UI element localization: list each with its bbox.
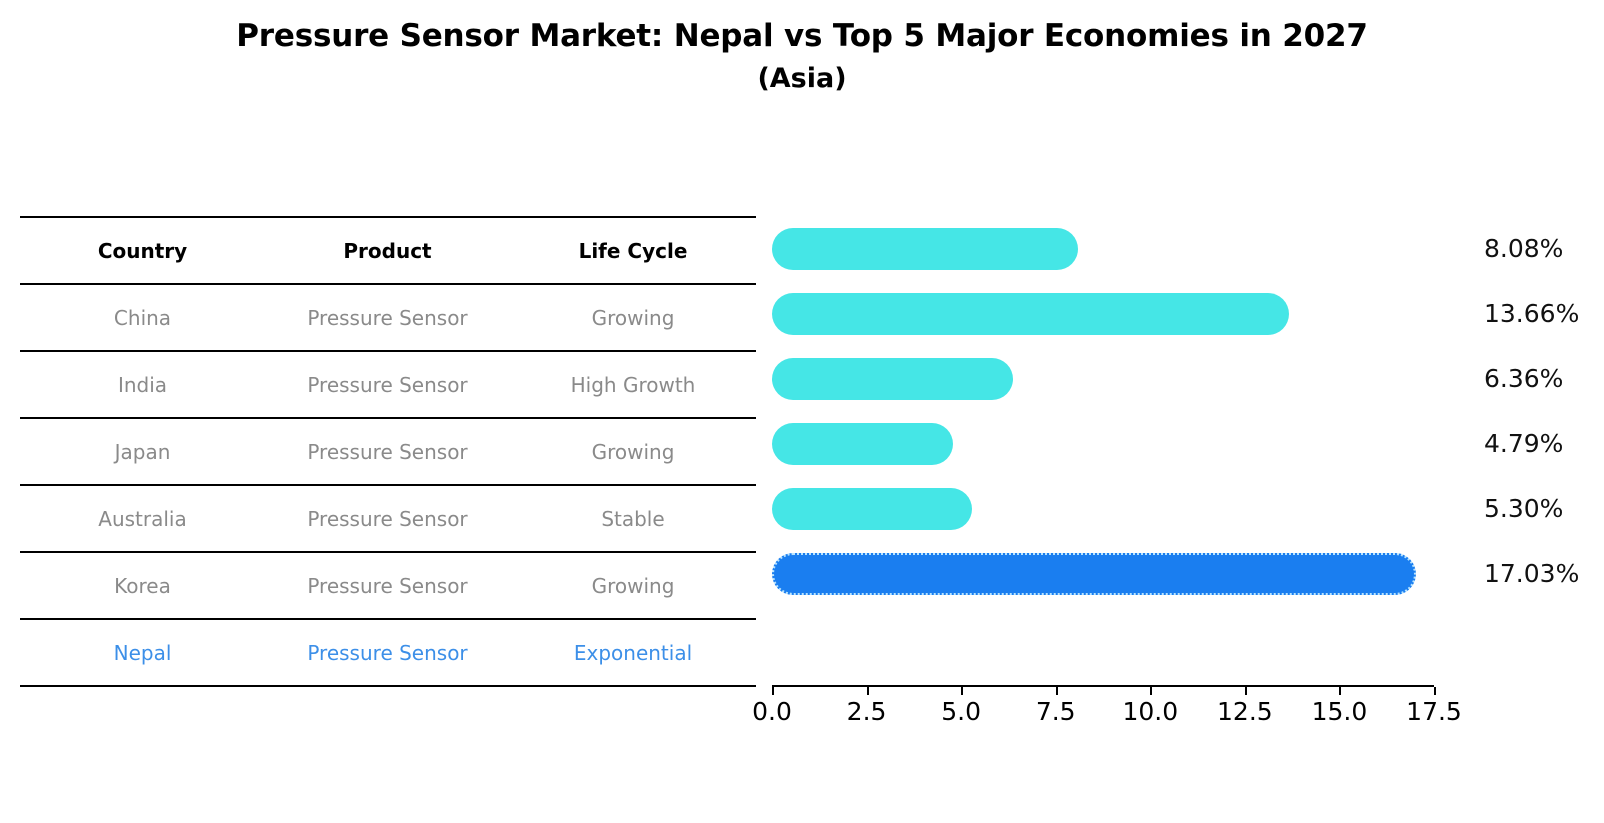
bar[interactable] (772, 228, 1078, 270)
x-axis-tick-label: 5.0 (941, 697, 981, 726)
bar-chart-panel: 8.08%13.66%6.36%4.79%5.30%17.03% (772, 216, 1472, 686)
bar-value-label: 6.36% (1472, 358, 1563, 400)
x-axis-tick (1245, 687, 1247, 695)
x-axis: 0.02.55.07.510.012.515.017.5 (772, 685, 1472, 745)
bar[interactable] (772, 488, 972, 530)
x-axis-tick-label: 17.5 (1406, 697, 1462, 726)
cell-product: Pressure Sensor (265, 351, 510, 418)
table-row: China Pressure Sensor Growing (20, 284, 756, 351)
cell-life-cycle: Exponential (510, 619, 756, 686)
x-axis-tick (1434, 687, 1436, 695)
table-body: China Pressure Sensor Growing India Pres… (20, 284, 756, 686)
bar-value-label: 17.03% (1472, 553, 1579, 595)
bar-row: 6.36% (772, 346, 1472, 411)
cell-product: Pressure Sensor (265, 485, 510, 552)
cell-country: Australia (20, 485, 265, 552)
cell-life-cycle: Stable (510, 485, 756, 552)
table-row: Australia Pressure Sensor Stable (20, 485, 756, 552)
page-title: Pressure Sensor Market: Nepal vs Top 5 M… (0, 14, 1604, 58)
bar-row: 17.03% (772, 541, 1472, 606)
table-header: Country Product Life Cycle (20, 217, 756, 284)
bar-row: 8.08% (772, 216, 1472, 281)
x-axis-tick-label: 0.0 (752, 697, 792, 726)
bar-row: 4.79% (772, 411, 1472, 476)
cell-country: Japan (20, 418, 265, 485)
bar-row: 5.30% (772, 476, 1472, 541)
cell-product: Pressure Sensor (265, 418, 510, 485)
x-axis-tick-label: 7.5 (1036, 697, 1076, 726)
x-axis-tick-label: 10.0 (1122, 697, 1178, 726)
page-subtitle: (Asia) (0, 58, 1604, 100)
cell-product: Pressure Sensor (265, 552, 510, 619)
bar[interactable] (772, 423, 953, 465)
column-header-country: Country (20, 217, 265, 284)
bar-highlighted[interactable] (772, 553, 1416, 595)
x-axis-tick (867, 687, 869, 695)
table-row-highlighted: Nepal Pressure Sensor Exponential (20, 619, 756, 686)
country-table-panel: Country Product Life Cycle China Pressur… (20, 216, 756, 687)
title-block: Pressure Sensor Market: Nepal vs Top 5 M… (0, 14, 1604, 100)
x-axis-tick-label: 15.0 (1312, 697, 1368, 726)
cell-life-cycle: High Growth (510, 351, 756, 418)
bar-value-label: 8.08% (1472, 228, 1563, 270)
plot-area: 8.08%13.66%6.36%4.79%5.30%17.03% (772, 216, 1472, 685)
cell-life-cycle: Growing (510, 552, 756, 619)
x-axis-tick (772, 687, 774, 695)
cell-life-cycle: Growing (510, 418, 756, 485)
table-row: India Pressure Sensor High Growth (20, 351, 756, 418)
x-axis-tick-label: 12.5 (1217, 697, 1273, 726)
x-axis-tick (1150, 687, 1152, 695)
x-axis-tick-label: 2.5 (847, 697, 887, 726)
cell-product: Pressure Sensor (265, 619, 510, 686)
bar[interactable] (772, 358, 1013, 400)
bar[interactable] (772, 293, 1289, 335)
cell-country: Nepal (20, 619, 265, 686)
cell-life-cycle: Growing (510, 284, 756, 351)
x-axis-tick (961, 687, 963, 695)
x-axis-tick (1056, 687, 1058, 695)
cell-country: India (20, 351, 265, 418)
table-row: Japan Pressure Sensor Growing (20, 418, 756, 485)
bar-row: 13.66% (772, 281, 1472, 346)
cell-country: China (20, 284, 265, 351)
bar-value-label: 13.66% (1472, 293, 1579, 335)
table-row: Korea Pressure Sensor Growing (20, 552, 756, 619)
bar-value-label: 4.79% (1472, 423, 1563, 465)
x-axis-line (772, 685, 1434, 687)
column-header-product: Product (265, 217, 510, 284)
cell-country: Korea (20, 552, 265, 619)
column-header-life-cycle: Life Cycle (510, 217, 756, 284)
x-axis-tick (1339, 687, 1341, 695)
cell-product: Pressure Sensor (265, 284, 510, 351)
table-header-row: Country Product Life Cycle (20, 217, 756, 284)
bar-value-label: 5.30% (1472, 488, 1563, 530)
country-table: Country Product Life Cycle China Pressur… (20, 216, 756, 687)
